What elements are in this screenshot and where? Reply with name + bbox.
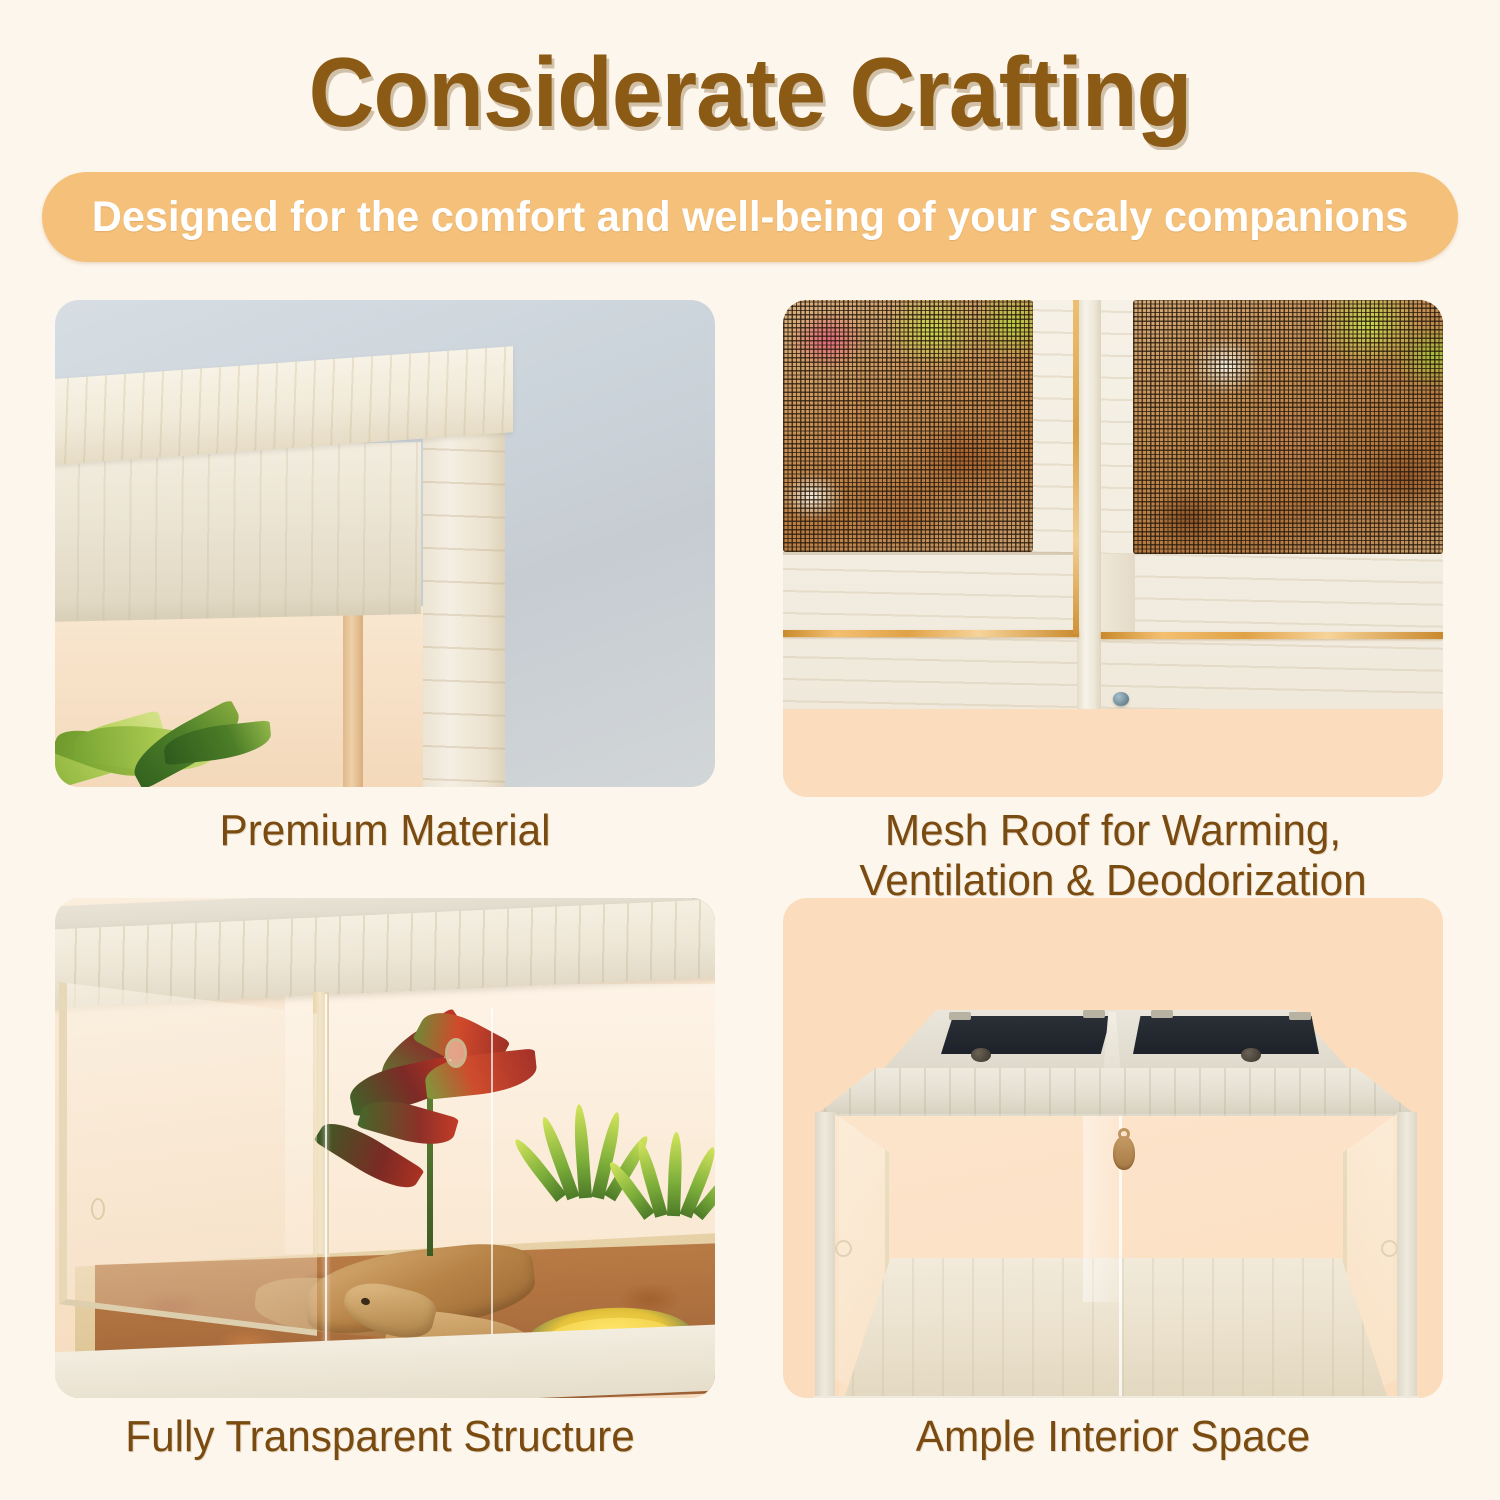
roof-mesh-panel-right xyxy=(1133,1016,1319,1054)
door-handle-icon xyxy=(445,1038,467,1068)
hinge-icon xyxy=(949,1012,971,1020)
mesh-window-left xyxy=(783,300,1033,552)
panel1-wood-post xyxy=(423,432,505,787)
panel2-center-divider xyxy=(1077,300,1101,710)
hinge-icon xyxy=(1083,1010,1105,1018)
mesh-grid-overlay xyxy=(783,300,1033,552)
subtitle-text: Designed for the comfort and well-being … xyxy=(92,193,1409,242)
panel2-gold-trim-vertical xyxy=(1073,300,1079,634)
roof-mesh-panel-left xyxy=(941,1016,1111,1054)
panel4-left-post xyxy=(815,1112,835,1398)
door-latch-icon xyxy=(91,1198,105,1220)
feature-image-ample-interior-space xyxy=(783,898,1443,1398)
feature-image-premium-material xyxy=(55,300,715,787)
panel2-gold-trim xyxy=(783,630,1079,637)
mesh-grid-overlay xyxy=(1133,300,1443,554)
panel2-frame-edge xyxy=(783,552,1079,555)
panel1-wood-slab xyxy=(55,442,421,622)
caption-mesh-roof: Mesh Roof for Warming, Ventilation & Deo… xyxy=(774,806,1452,906)
hinge-icon xyxy=(1151,1010,1173,1018)
mesh-window-right xyxy=(1133,300,1443,554)
panel2-peach-band xyxy=(783,709,1443,797)
lid-knob-icon xyxy=(971,1048,991,1062)
feature-image-mesh-roof xyxy=(783,300,1443,797)
caption-transparent-structure: Fully Transparent Structure xyxy=(54,1412,707,1462)
screw-icon xyxy=(1113,692,1129,706)
vent-hole-icon xyxy=(1381,1240,1398,1257)
feature-image-transparent-structure xyxy=(55,898,715,1398)
caption-ample-interior-space: Ample Interior Space xyxy=(796,1412,1430,1462)
panel2-gold-trim xyxy=(1101,632,1443,639)
panel4-top-rail xyxy=(815,1068,1417,1116)
panel1-interior-strut xyxy=(343,606,363,787)
lock-icon xyxy=(1113,1136,1135,1170)
glass-seam xyxy=(325,994,327,1394)
lid-knob-icon xyxy=(1241,1048,1261,1062)
panel4-base-rail xyxy=(813,1396,1419,1398)
panel3-left-glass-pane xyxy=(59,982,317,1336)
caption-premium-material: Premium Material xyxy=(68,806,702,856)
panel4-right-post xyxy=(1397,1112,1417,1398)
page-title: Considerate Crafting xyxy=(53,36,1448,149)
vent-hole-icon xyxy=(835,1240,852,1257)
hinge-icon xyxy=(1289,1012,1311,1020)
subtitle-banner: Designed for the comfort and well-being … xyxy=(42,172,1458,262)
caption-mesh-roof-line1: Mesh Roof for Warming, xyxy=(885,806,1341,855)
panel2-frame-edge xyxy=(1101,554,1135,632)
infographic-page: Considerate Crafting Designed for the co… xyxy=(0,0,1500,1500)
